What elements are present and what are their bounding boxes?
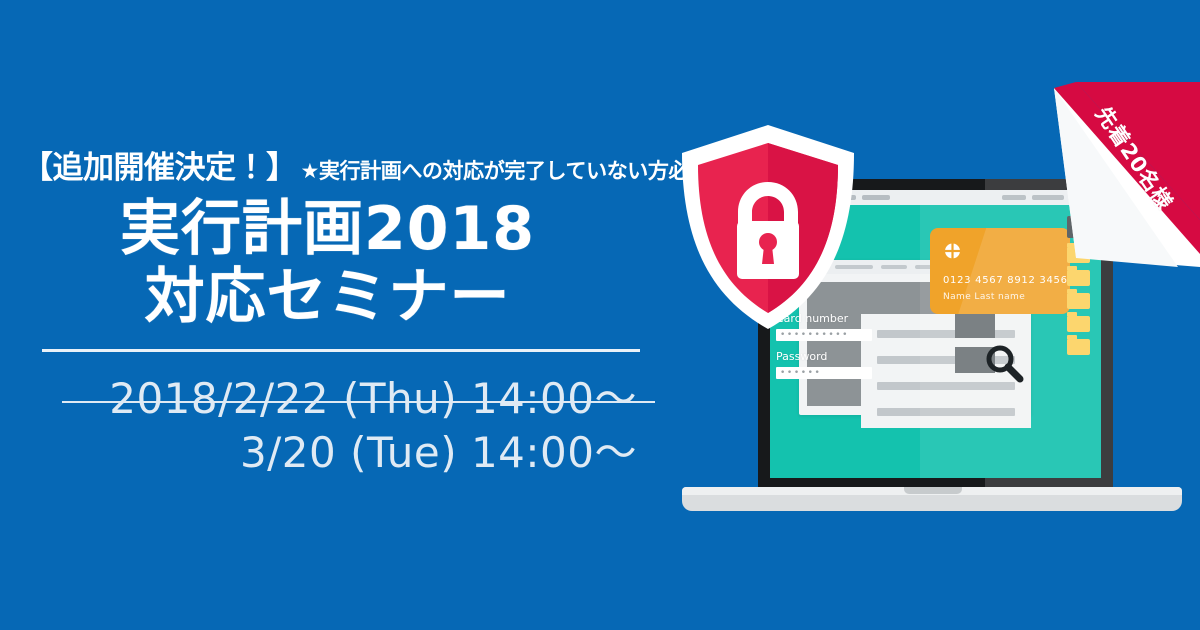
eyebrow-sub-text: ★実行計画への対応が完了していない方必見★: [301, 155, 729, 185]
credit-card-holder: Name Last name: [943, 292, 1025, 302]
credit-card-number: 0123 4567 8912 3456: [943, 275, 1068, 286]
title-divider: [42, 349, 640, 352]
folder-icon[interactable]: [1067, 316, 1090, 332]
folder-icon[interactable]: [1067, 270, 1090, 286]
schedule-list: 2018/2/22 (Thu) 14:00〜 3/20 (Tue) 14:00〜: [0, 372, 655, 480]
folder-icon[interactable]: [1067, 293, 1090, 309]
toolbar-pill: [862, 195, 890, 200]
browser-toolbar-pill: [881, 265, 907, 269]
laptop-trackpad-notch: [904, 487, 962, 494]
strikethrough-line: [62, 401, 655, 403]
shield-lock-icon: [675, 120, 861, 334]
password-label: Password: [776, 350, 827, 363]
chip-icon: [944, 243, 961, 259]
eyebrow-row: 【追加開催決定！】 ★実行計画への対応が完了していない方必見★: [22, 142, 728, 187]
schedule-date-current-text: 3/20 (Tue) 14:00〜: [240, 428, 637, 477]
title-line-2: 対応セミナー: [0, 264, 655, 332]
search-icon[interactable]: [983, 342, 1025, 384]
password-input[interactable]: ••••••: [776, 367, 872, 379]
eyebrow-strong-text: 【追加開催決定！】: [22, 142, 297, 187]
headline-block: 【追加開催決定！】 ★実行計画への対応が完了していない方必見★ 実行計画2018…: [0, 0, 700, 630]
schedule-date-current: 3/20 (Tue) 14:00〜: [0, 426, 655, 480]
schedule-date-cancelled: 2018/2/22 (Thu) 14:00〜: [0, 372, 655, 426]
page-title: 実行計画2018 対応セミナー: [0, 196, 655, 332]
schedule-date-cancelled-text: 2018/2/22 (Thu) 14:00〜: [109, 374, 637, 423]
content-line: [877, 408, 1015, 416]
corner-ribbon: 先着20名様: [1040, 82, 1200, 267]
seminar-banner: 【追加開催決定！】 ★実行計画への対応が完了していない方必見★ 実行計画2018…: [0, 0, 1200, 630]
folder-icon[interactable]: [1067, 339, 1090, 355]
title-line-1: 実行計画2018: [0, 196, 655, 264]
toolbar-pill: [1002, 195, 1026, 200]
password-value: ••••••: [780, 370, 821, 377]
